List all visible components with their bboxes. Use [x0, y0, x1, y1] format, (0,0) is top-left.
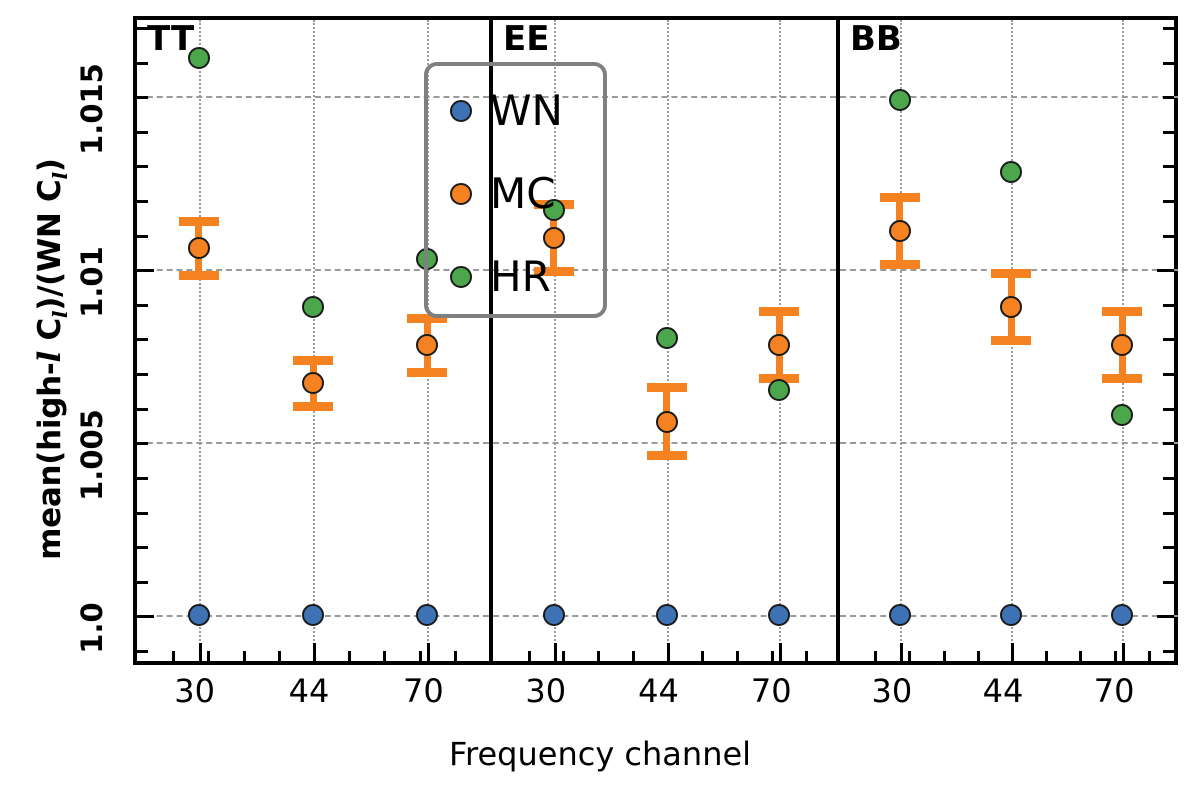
y-tick-minor [137, 131, 148, 134]
x-tick-label: 44 [614, 672, 704, 710]
legend-marker-mc [450, 183, 472, 205]
y-tick-right-minor [1163, 62, 1174, 65]
data-point-hr [768, 379, 790, 401]
y-tick-minor [137, 304, 148, 307]
y-tick-minor [137, 96, 148, 99]
y-tick-right-minor [1163, 373, 1174, 376]
data-point-wn [302, 604, 324, 626]
data-point-wn [1111, 604, 1133, 626]
data-point-mc [416, 334, 438, 356]
x-tick-minor [207, 651, 210, 661]
y-tick-right-major [1157, 269, 1174, 272]
x-tick-minor [943, 651, 946, 661]
x-tick-minor [1148, 651, 1151, 661]
data-point-hr [1111, 404, 1133, 426]
error-bar-cap [1102, 307, 1142, 316]
y-tick-right-minor [1163, 131, 1174, 134]
data-point-hr [188, 47, 210, 69]
y-tick-right-minor [1163, 96, 1174, 99]
y-tick-major [137, 269, 154, 272]
y-tick-right-minor [1163, 650, 1174, 653]
x-tick-minor [597, 651, 600, 661]
x-tick-label: 70 [1069, 672, 1159, 710]
data-point-mc [768, 334, 790, 356]
error-bar-cap [880, 193, 920, 202]
legend-box: WN MC HR [424, 62, 607, 318]
gridline-vertical [313, 20, 315, 661]
x-tick-label: 30 [501, 672, 591, 710]
y-tick-minor [137, 338, 148, 341]
y-tick-minor [137, 546, 148, 549]
gridline-vertical [199, 20, 201, 661]
x-tick-major [554, 643, 557, 661]
x-tick-minor [172, 651, 175, 661]
x-tick-label: 30 [150, 672, 240, 710]
plot-frame: TTEEBB WN MC HR [133, 16, 1178, 665]
x-tick-label: 44 [958, 672, 1048, 710]
data-point-wn [188, 604, 210, 626]
x-tick-minor [701, 651, 704, 661]
y-tick-minor [137, 62, 148, 65]
y-tick-minor [137, 408, 148, 411]
x-tick-major [1122, 643, 1125, 661]
error-bar-cap [759, 307, 799, 316]
panel-bb: BB [836, 20, 1178, 661]
x-tick-label: 70 [726, 672, 816, 710]
x-tick-minor [1079, 651, 1082, 661]
error-bar-cap [179, 271, 219, 280]
legend-label-wn: WN [490, 90, 563, 132]
x-tick-major [427, 643, 430, 661]
data-point-mc [188, 237, 210, 259]
y-tick-minor [137, 512, 148, 515]
x-tick-minor [1114, 651, 1117, 661]
x-tick-minor [632, 651, 635, 661]
y-tick-right-minor [1163, 512, 1174, 515]
data-point-mc [656, 411, 678, 433]
error-bar-cap [647, 383, 687, 392]
x-tick-minor [805, 651, 808, 661]
data-point-wn [1000, 604, 1022, 626]
error-bar-cap [179, 217, 219, 226]
x-tick-minor [771, 651, 774, 661]
data-point-wn [416, 604, 438, 626]
panel-label-bb: BB [850, 22, 902, 56]
panel-label-tt: TT [147, 22, 194, 56]
y-tick-right-minor [1163, 165, 1174, 168]
x-tick-minor [383, 651, 386, 661]
error-bar-cap [647, 451, 687, 460]
x-tick-minor [1011, 651, 1014, 661]
y-tick-minor [137, 581, 148, 584]
x-tick-label: 70 [378, 672, 468, 710]
x-tick-minor [874, 651, 877, 661]
y-tick-minor [137, 373, 148, 376]
x-tick-minor [454, 651, 457, 661]
legend-label-hr: HR [490, 256, 551, 298]
y-tick-right-minor [1163, 581, 1174, 584]
x-tick-minor [736, 651, 739, 661]
chart-root: mean(high-l Cl)/(WN Cl) 1.0 1.005 1.01 1… [0, 0, 1200, 807]
panel-label-ee: EE [503, 22, 549, 56]
error-bar-cap [407, 368, 447, 377]
data-point-wn [768, 604, 790, 626]
y-tick-right-minor [1163, 338, 1174, 341]
y-tick-major [137, 615, 154, 618]
x-axis-label: Frequency channel [0, 735, 1200, 773]
y-tick-label-0: 1.0 [75, 603, 109, 654]
legend-label-mc: MC [490, 173, 556, 215]
error-bar-cap [991, 269, 1031, 278]
y-tick-right-minor [1163, 304, 1174, 307]
y-tick-right-minor [1163, 442, 1174, 445]
y-tick-right-minor [1163, 477, 1174, 480]
data-point-hr [1000, 161, 1022, 183]
error-bar-cap [293, 356, 333, 365]
data-point-hr [656, 327, 678, 349]
y-tick-right-minor [1163, 546, 1174, 549]
data-point-mc [1111, 334, 1133, 356]
error-bar-cap [1102, 374, 1142, 383]
y-tick-minor [137, 477, 148, 480]
y-tick-right-minor [1163, 235, 1174, 238]
x-tick-minor [908, 651, 911, 661]
x-tick-major [900, 643, 903, 661]
x-tick-minor [562, 651, 565, 661]
y-axis-label: mean(high-l Cl)/(WN Cl) [32, 39, 72, 679]
x-tick-major [199, 643, 202, 661]
x-tick-minor [419, 651, 422, 661]
y-tick-minor [137, 442, 148, 445]
error-bar-cap [991, 336, 1031, 345]
x-tick-minor [348, 651, 351, 661]
y-tick-minor [137, 235, 148, 238]
data-point-mc [302, 372, 324, 394]
y-tick-right-minor [1163, 27, 1174, 30]
legend-marker-wn [450, 100, 472, 122]
data-point-wn [656, 604, 678, 626]
x-tick-minor [278, 651, 281, 661]
x-tick-minor [1045, 651, 1048, 661]
y-tick-right-major [1157, 615, 1174, 618]
data-point-wn [889, 604, 911, 626]
gridline-horizontal [840, 442, 1178, 444]
y-tick-label-2: 1.01 [75, 246, 109, 318]
data-point-hr [302, 296, 324, 318]
y-tick-label-3: 1.015 [75, 63, 109, 155]
data-point-mc [889, 220, 911, 242]
gridline-vertical [900, 20, 902, 661]
x-tick-label: 44 [264, 672, 354, 710]
y-tick-minor [137, 27, 148, 30]
x-tick-minor [313, 651, 316, 661]
y-tick-minor [137, 650, 148, 653]
y-tick-right-minor [1163, 200, 1174, 203]
data-point-mc [1000, 296, 1022, 318]
x-tick-minor [667, 651, 670, 661]
y-tick-label-1: 1.005 [75, 409, 109, 501]
error-bar-cap [293, 402, 333, 411]
data-point-wn [543, 604, 565, 626]
y-tick-minor [137, 200, 148, 203]
x-tick-major [779, 643, 782, 661]
x-tick-minor [977, 651, 980, 661]
y-tick-minor [137, 165, 148, 168]
data-point-hr [889, 89, 911, 111]
x-tick-label: 30 [847, 672, 937, 710]
x-tick-minor [243, 651, 246, 661]
x-tick-minor [528, 651, 531, 661]
y-tick-right-minor [1163, 408, 1174, 411]
error-bar-cap [880, 260, 920, 269]
legend-marker-hr [450, 266, 472, 288]
